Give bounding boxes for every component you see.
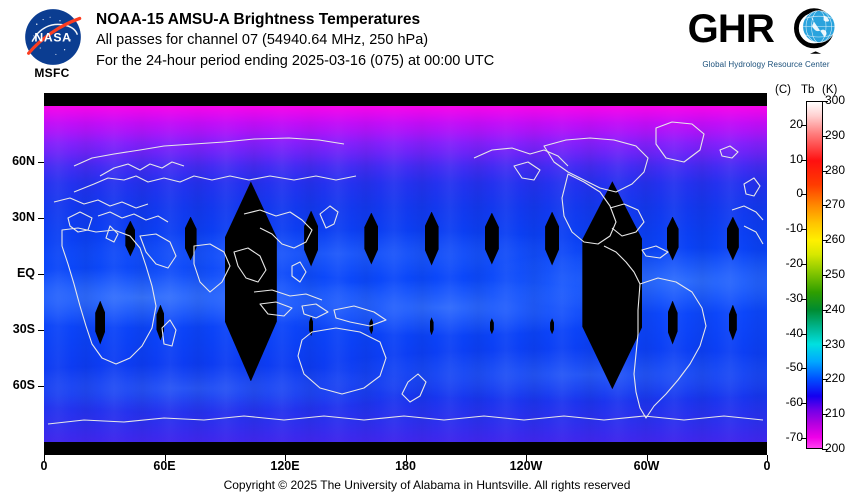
lon-tick (165, 455, 166, 461)
lat-label-30S: 30S (13, 322, 35, 336)
colorbar-variable-label: Tb (801, 84, 814, 96)
lon-label-120W-4: 120W (496, 459, 556, 473)
colorbar-label-kelvin-210: 210 (825, 406, 845, 420)
lat-tick (38, 162, 44, 163)
lon-label-60W-5: 60W (617, 459, 677, 473)
ghrc-subtitle: Global Hydrology Resource Center (686, 60, 846, 69)
colorbar-label-kelvin-300: 300 (825, 93, 845, 107)
ghrc-wordmark-icon: GHR (686, 4, 846, 54)
lon-tick (44, 455, 45, 461)
colorbar-label-kelvin-200: 200 (825, 441, 845, 455)
lon-tick (647, 455, 648, 461)
page-title: NOAA-15 AMSU-A Brightness Temperatures (96, 9, 676, 30)
colorbar-label-kelvin-230: 230 (825, 337, 845, 351)
colorbar-label-kelvin-280: 280 (825, 163, 845, 177)
colorbar-label-celsius-20: 20 (790, 117, 803, 131)
lat-tick (38, 330, 44, 331)
colorbar: (C) Tb (K) 30029028027026025024023022021… (775, 84, 854, 464)
colorbar-label-celsius--30: -30 (786, 291, 803, 305)
lon-tick (526, 455, 527, 461)
lat-label-60N: 60N (12, 154, 35, 168)
colorbar-label-celsius--40: -40 (786, 326, 803, 340)
lon-label-180-3: 180 (376, 459, 436, 473)
map-panel (44, 93, 767, 455)
ghrc-logo: GHR Global Hydrology Resource Center (686, 2, 846, 80)
channel-subtitle: All passes for channel 07 (54940.64 MHz,… (96, 30, 676, 51)
title-block: NOAA-15 AMSU-A Brightness Temperatures A… (96, 9, 676, 72)
svg-text:NASA: NASA (34, 31, 71, 45)
lat-tick (38, 386, 44, 387)
brightness-temperature-field (44, 106, 767, 442)
lon-label-120E-2: 120E (255, 459, 315, 473)
nasa-center-label: MSFC (14, 66, 90, 80)
colorbar-label-celsius-0: 0 (796, 186, 803, 200)
copyright-footer: Copyright © 2025 The University of Alaba… (0, 478, 854, 492)
colorbar-label-kelvin-250: 250 (825, 267, 845, 281)
period-subtitle: For the 24-hour period ending 2025-03-16… (96, 51, 676, 72)
colorbar-label-kelvin-220: 220 (825, 371, 845, 385)
colorbar-label-kelvin-270: 270 (825, 197, 845, 211)
colorbar-gradient (806, 101, 823, 449)
lat-tick (38, 218, 44, 219)
south-polar-layer (44, 106, 767, 442)
colorbar-label-kelvin-240: 240 (825, 302, 845, 316)
colorbar-label-celsius-10: 10 (790, 152, 803, 166)
header: NASA MSFC NOAA-15 AMSU-A Brightness Temp… (0, 0, 854, 88)
lon-label-0-0: 0 (14, 459, 74, 473)
lat-label-60S: 60S (13, 378, 35, 392)
lat-tick (38, 274, 44, 275)
svg-text:GHR: GHR (688, 7, 775, 51)
colorbar-label-celsius--20: -20 (786, 256, 803, 270)
nasa-meatball-icon: NASA (24, 8, 82, 66)
lat-label-EQ: EQ (17, 266, 35, 280)
colorbar-label-kelvin-290: 290 (825, 128, 845, 142)
lon-tick (406, 455, 407, 461)
lon-tick (767, 455, 768, 461)
colorbar-label-celsius--50: -50 (786, 360, 803, 374)
colorbar-unit-celsius: (C) (775, 84, 791, 96)
colorbar-label-celsius--70: -70 (786, 430, 803, 444)
lat-label-30N: 30N (12, 210, 35, 224)
colorbar-label-kelvin-260: 260 (825, 232, 845, 246)
colorbar-label-celsius--10: -10 (786, 221, 803, 235)
nasa-logo: NASA MSFC (14, 6, 90, 86)
colorbar-label-celsius--60: -60 (786, 395, 803, 409)
lon-tick (285, 455, 286, 461)
lon-label-60E-1: 60E (135, 459, 195, 473)
